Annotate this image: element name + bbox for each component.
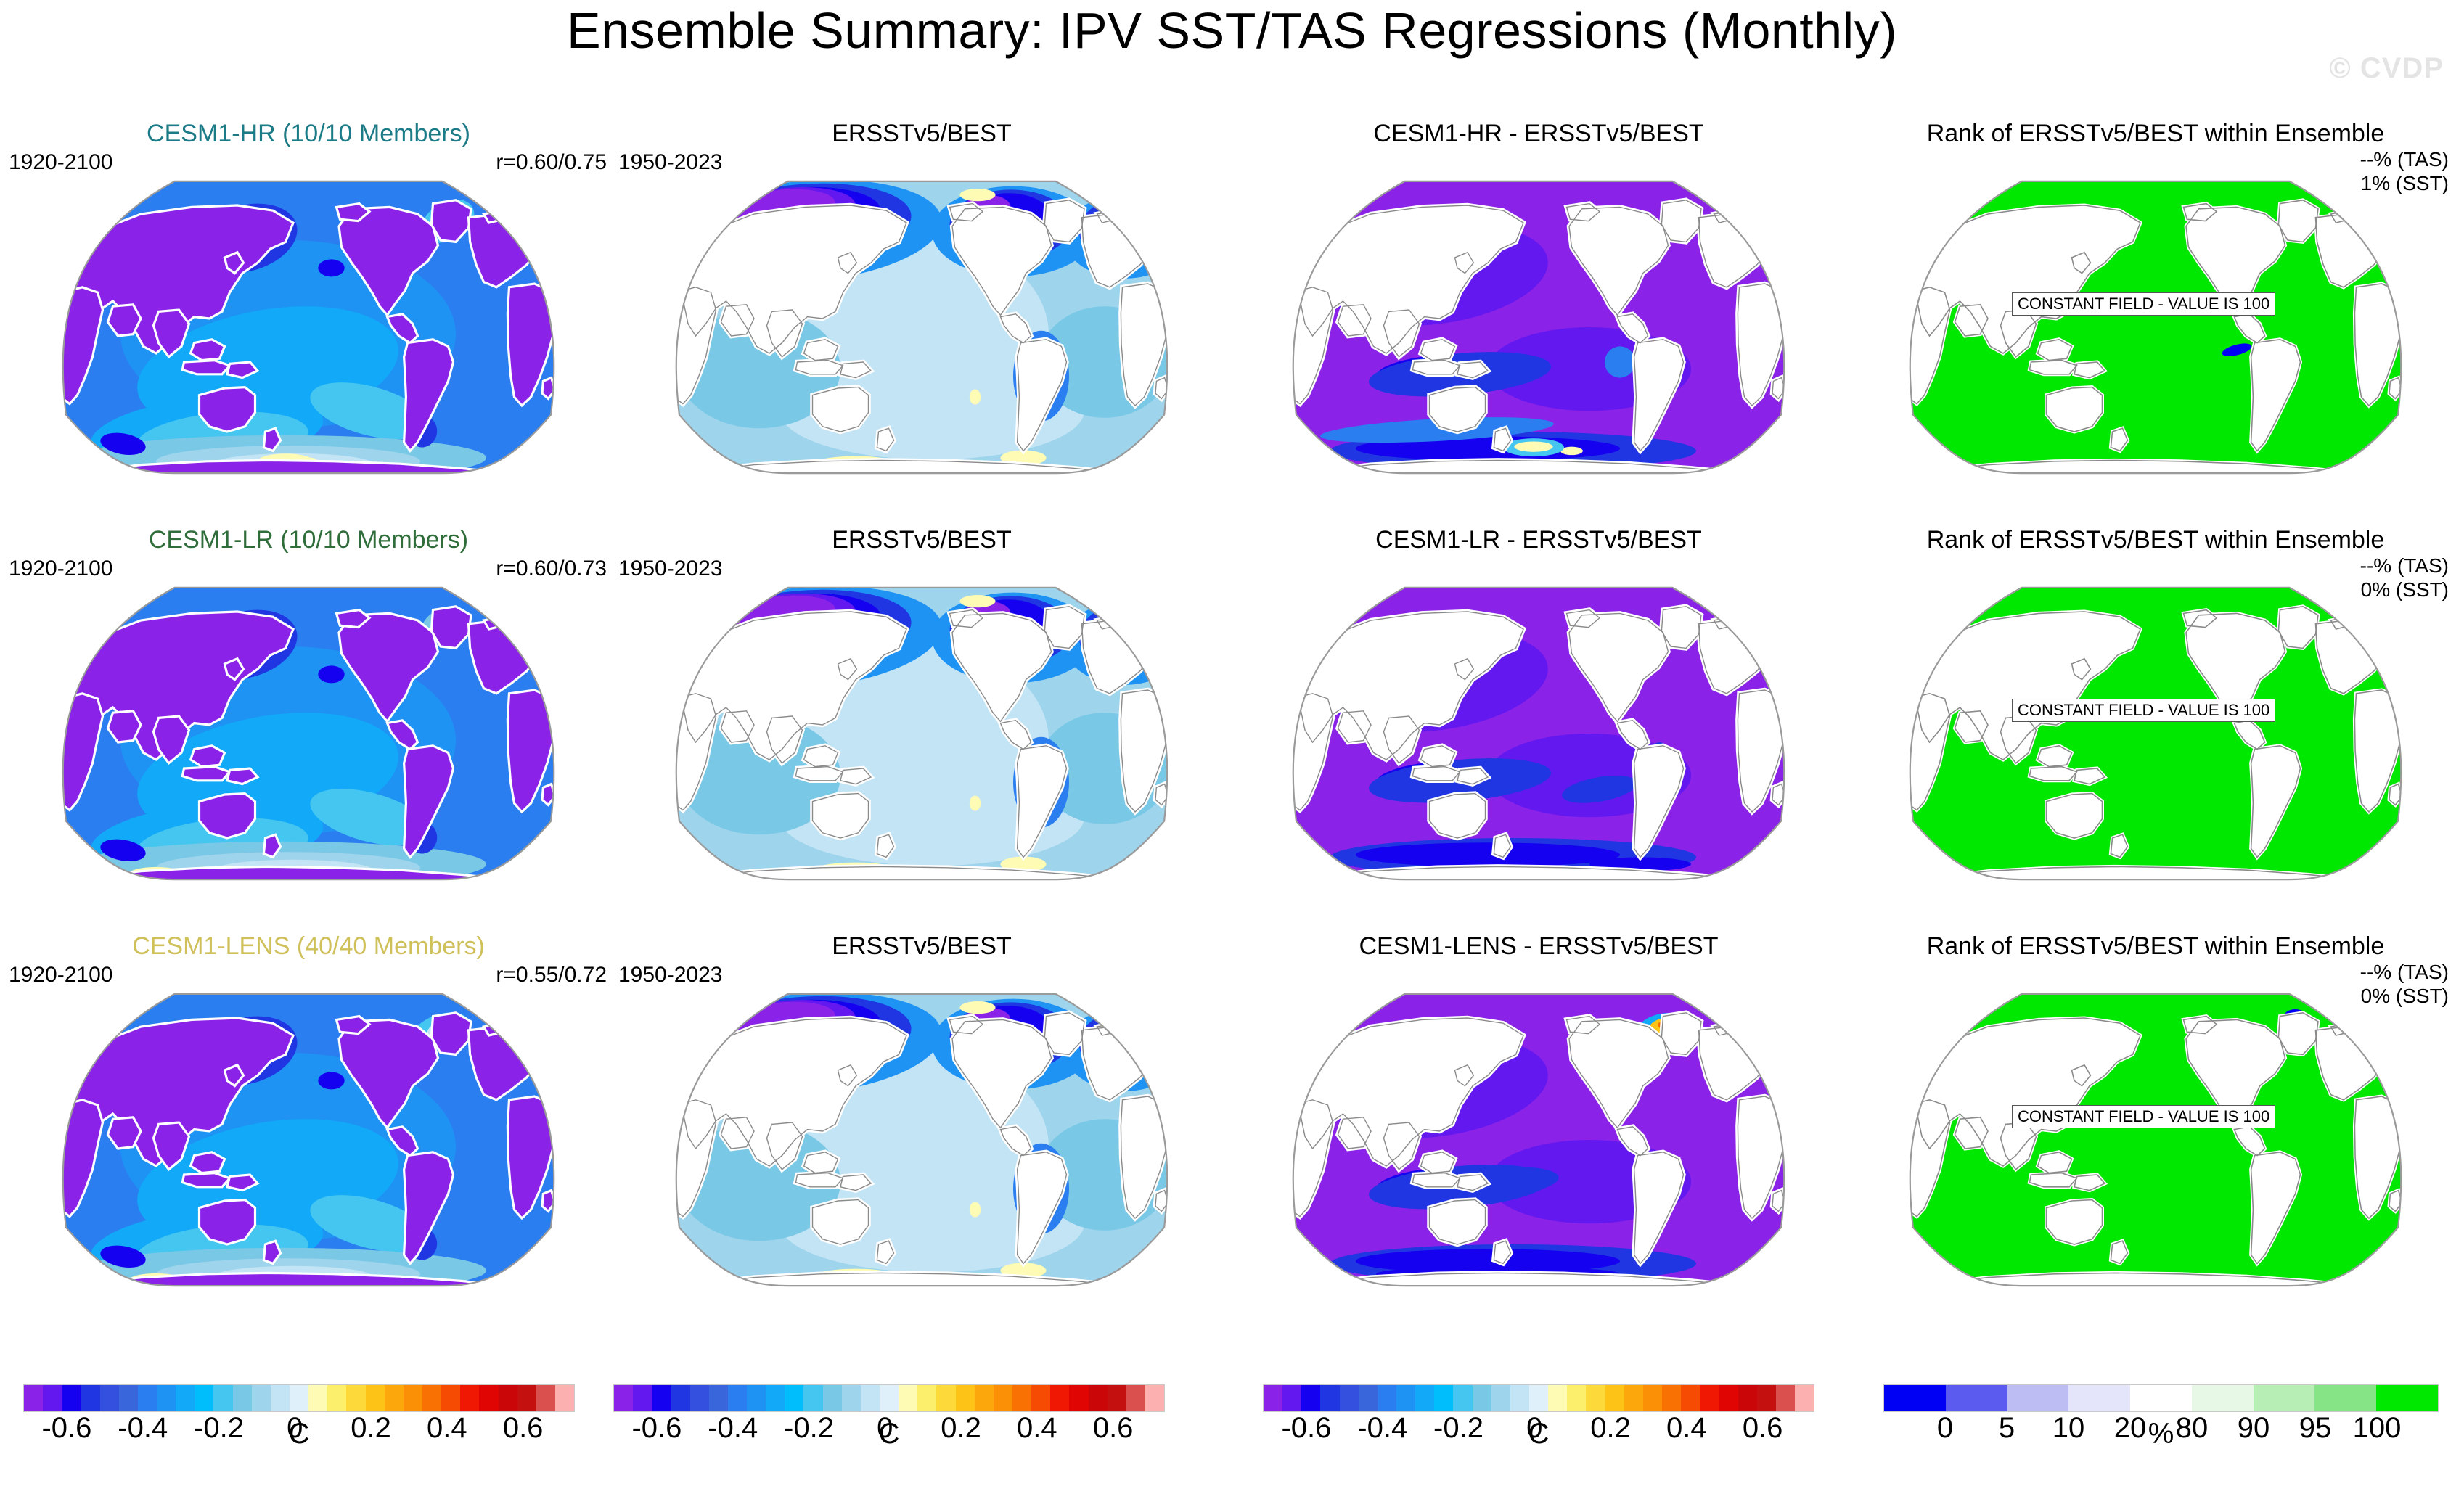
colorbar-swatch (2007, 1385, 2069, 1411)
colorbar-swatch (271, 1385, 290, 1411)
panel-difference-row1: CESM1-HR - ERSSTv5/BEST (1234, 120, 1843, 512)
globe-map-observations (668, 153, 1176, 501)
colorbar-swatch (366, 1385, 385, 1411)
panel-title: CESM1-LENS (40/40 Members) (7, 932, 610, 961)
colorbar-swatch (1757, 1385, 1776, 1411)
colorbar-swatch (536, 1385, 555, 1411)
colorbar-regression-2: -0.6-0.4-0.200.20.40.6 C (613, 1384, 1165, 1447)
colorbar-swatch (119, 1385, 138, 1411)
colorbar-swatch (2376, 1385, 2438, 1411)
colorbar-swatch (823, 1385, 842, 1411)
panel-observations-row3: ERSSTv5/BEST1950-2023 (617, 932, 1227, 1324)
colorbar-swatch (652, 1385, 671, 1411)
colorbar-swatch (671, 1385, 689, 1411)
colorbar-swatch (233, 1385, 252, 1411)
panel-title: CESM1-LENS - ERSSTv5/BEST (1234, 932, 1843, 961)
colorbar-swatch (1378, 1385, 1396, 1411)
colorbar-swatch (62, 1385, 81, 1411)
colorbar-swatch (842, 1385, 861, 1411)
colorbar-swatch (975, 1385, 994, 1411)
colorbar-swatch (43, 1385, 62, 1411)
colorbar-swatch (1548, 1385, 1567, 1411)
colorbar-swatch (994, 1385, 1012, 1411)
panel-observations-row2: ERSSTv5/BEST1950-2023 (617, 526, 1227, 918)
colorbar-swatch (2192, 1385, 2254, 1411)
colorbar-swatch (936, 1385, 955, 1411)
globe-map-difference (1285, 153, 1793, 501)
colorbar-swatch (1567, 1385, 1586, 1411)
colorbar-swatch (460, 1385, 479, 1411)
colorbar-swatch (252, 1385, 271, 1411)
colorbar-swatch (1340, 1385, 1359, 1411)
colorbar-swatch (1264, 1385, 1282, 1411)
panel-observations-row1: ERSSTv5/BEST1950-2023 (617, 120, 1227, 512)
colorbar-swatch (690, 1385, 709, 1411)
panel-title: Rank of ERSSTv5/BEST within Ensemble (1858, 932, 2453, 961)
colorbar-swatch (633, 1385, 652, 1411)
panel-model-row1: CESM1-HR (10/10 Members)1920-2100r=0.60/… (7, 120, 610, 512)
colorbar-swatch (861, 1385, 880, 1411)
colorbar-swatch (1643, 1385, 1662, 1411)
colorbar-swatch (1700, 1385, 1719, 1411)
colorbar-swatch (81, 1385, 99, 1411)
colorbar-unit: C (613, 1418, 1165, 1450)
colorbar-swatch (2130, 1385, 2192, 1411)
globe-map-difference (1285, 966, 1793, 1314)
colorbar-swatch (517, 1385, 536, 1411)
colorbar-swatch (499, 1385, 517, 1411)
colorbar-swatch (1776, 1385, 1795, 1411)
colorbar-swatch (555, 1385, 574, 1411)
globe-map-rank (1902, 559, 2410, 908)
colorbar-swatch (213, 1385, 232, 1411)
constant-field-label: CONSTANT FIELD - VALUE IS 100 (2012, 1105, 2275, 1128)
colorbar-swatch (2254, 1385, 2315, 1411)
globe-map-rank (1902, 153, 2410, 501)
colorbar-strip (613, 1384, 1165, 1412)
colorbar-swatch (1434, 1385, 1453, 1411)
colorbar-swatch (385, 1385, 404, 1411)
colorbar-swatch (1795, 1385, 1814, 1411)
globe-map-observations (668, 966, 1176, 1314)
colorbar-regression-1: -0.6-0.4-0.200.20.40.6 C (23, 1384, 575, 1447)
colorbar-swatch (1069, 1385, 1088, 1411)
colorbar-swatch (1320, 1385, 1339, 1411)
colorbar-strip (1263, 1384, 1814, 1412)
globe-map-observations (668, 559, 1176, 908)
panel-model-row3: CESM1-LENS (40/40 Members)1920-2100r=0.5… (7, 932, 610, 1324)
colorbar-swatch (308, 1385, 327, 1411)
globe-map-rank (1902, 966, 2410, 1314)
colorbar-swatch (327, 1385, 346, 1411)
colorbar-swatch (1529, 1385, 1548, 1411)
panel-difference-row2: CESM1-LR - ERSSTv5/BEST (1234, 526, 1843, 918)
constant-field-label: CONSTANT FIELD - VALUE IS 100 (2012, 699, 2275, 722)
colorbar-swatch (138, 1385, 157, 1411)
colorbar-swatch (479, 1385, 498, 1411)
colorbar-strip (23, 1384, 575, 1412)
colorbar-swatch (1662, 1385, 1681, 1411)
colorbar-swatch (176, 1385, 195, 1411)
colorbar-swatch (441, 1385, 460, 1411)
colorbar-swatch (1586, 1385, 1605, 1411)
colorbar-swatch (880, 1385, 899, 1411)
colorbar-swatch (1473, 1385, 1491, 1411)
colorbar-swatch (1510, 1385, 1529, 1411)
colorbar-swatch (157, 1385, 176, 1411)
globe-map-model (54, 559, 562, 908)
panel-difference-row3: CESM1-LENS - ERSSTv5/BEST (1234, 932, 1843, 1324)
panel-title: CESM1-HR - ERSSTv5/BEST (1234, 120, 1843, 148)
colorbar-swatch (1605, 1385, 1624, 1411)
panel-rank-row1: Rank of ERSSTv5/BEST within Ensemble--% … (1858, 120, 2453, 512)
colorbar-strip (1883, 1384, 2439, 1412)
panel-rank-row2: Rank of ERSSTv5/BEST within Ensemble--% … (1858, 526, 2453, 918)
panel-title: CESM1-LR - ERSSTv5/BEST (1234, 526, 1843, 554)
colorbar-unit: C (23, 1418, 575, 1450)
colorbar-swatch (1050, 1385, 1069, 1411)
colorbar-swatch (956, 1385, 975, 1411)
colorbar-swatch (404, 1385, 422, 1411)
panel-title: ERSSTv5/BEST (617, 932, 1227, 961)
colorbar-swatch (1396, 1385, 1415, 1411)
colorbar-swatch (1491, 1385, 1510, 1411)
panel-title: CESM1-LR (10/10 Members) (7, 526, 610, 554)
colorbar-swatch (1946, 1385, 2007, 1411)
colorbar-swatch (1453, 1385, 1472, 1411)
panel-title: ERSSTv5/BEST (617, 120, 1227, 148)
colorbar-swatch (766, 1385, 785, 1411)
colorbar-swatch (785, 1385, 803, 1411)
colorbar-swatch (100, 1385, 119, 1411)
colorbar-regression-3: -0.6-0.4-0.200.20.40.6 C (1263, 1384, 1814, 1447)
colorbar-swatch (1145, 1385, 1164, 1411)
colorbar-swatch (1738, 1385, 1757, 1411)
panel-title: Rank of ERSSTv5/BEST within Ensemble (1858, 526, 2453, 554)
colorbar-swatch (917, 1385, 936, 1411)
colorbar-swatch (2314, 1385, 2376, 1411)
colorbar-swatch (1359, 1385, 1378, 1411)
colorbar-swatch (709, 1385, 728, 1411)
colorbar-swatch (1012, 1385, 1031, 1411)
colorbar-swatch (1126, 1385, 1145, 1411)
colorbar-swatch (1884, 1385, 1946, 1411)
colorbar-unit: % (1883, 1418, 2439, 1450)
colorbar-swatch (1031, 1385, 1050, 1411)
colorbar-swatch (747, 1385, 766, 1411)
colorbar-rank: 051020809095100 % (1883, 1384, 2439, 1447)
colorbar-swatch (899, 1385, 917, 1411)
colorbar-unit: C (1263, 1418, 1814, 1450)
colorbar-swatch (803, 1385, 822, 1411)
constant-field-label: CONSTANT FIELD - VALUE IS 100 (2012, 292, 2275, 316)
colorbar-swatch (1089, 1385, 1108, 1411)
colorbar-swatch (1719, 1385, 1738, 1411)
colorbar-swatch (2068, 1385, 2130, 1411)
panel-rank-row3: Rank of ERSSTv5/BEST within Ensemble--% … (1858, 932, 2453, 1324)
colorbar-swatch (1301, 1385, 1320, 1411)
colorbar-swatch (728, 1385, 747, 1411)
colorbar-swatch (346, 1385, 365, 1411)
panel-title: Rank of ERSSTv5/BEST within Ensemble (1858, 120, 2453, 148)
colorbar-swatch (422, 1385, 441, 1411)
colorbar-swatch (1681, 1385, 1700, 1411)
colorbar-swatch (1624, 1385, 1643, 1411)
colorbar-swatch (1108, 1385, 1126, 1411)
colorbar-swatch (195, 1385, 213, 1411)
colorbar-swatch (614, 1385, 633, 1411)
globe-map-difference (1285, 559, 1793, 908)
colorbar-swatch (1415, 1385, 1434, 1411)
cvdp-watermark: © CVDP (2329, 52, 2444, 85)
globe-map-model (54, 153, 562, 501)
colorbar-swatch (290, 1385, 308, 1411)
globe-map-model (54, 966, 562, 1314)
page-title: Ensemble Summary: IPV SST/TAS Regression… (0, 1, 2464, 59)
colorbar-swatch (24, 1385, 43, 1411)
colorbar-swatch (1282, 1385, 1301, 1411)
panel-model-row2: CESM1-LR (10/10 Members)1920-2100r=0.60/… (7, 526, 610, 918)
panel-title: CESM1-HR (10/10 Members) (7, 120, 610, 148)
panel-title: ERSSTv5/BEST (617, 526, 1227, 554)
